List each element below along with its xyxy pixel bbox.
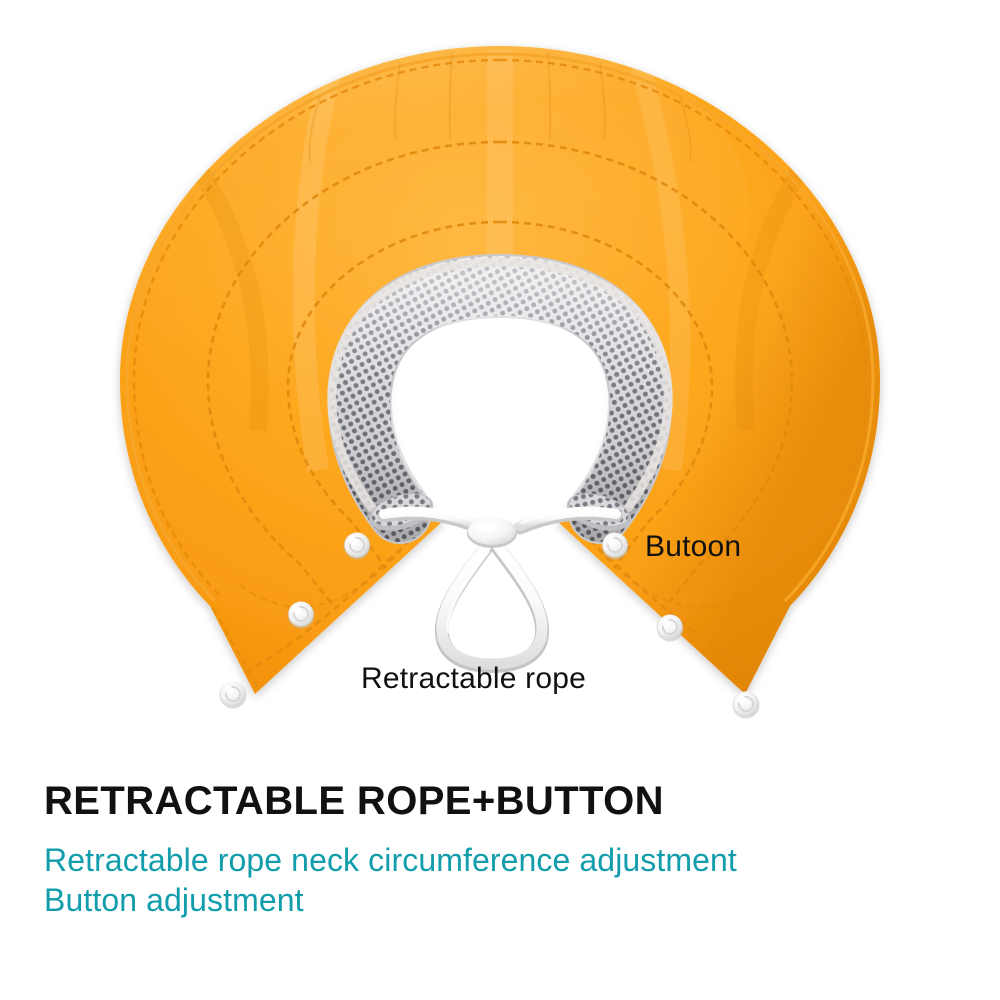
cord-lock-toggle xyxy=(467,517,517,548)
snap-button xyxy=(657,615,684,642)
snap-button xyxy=(288,602,315,629)
caption-block: RETRACTABLE ROPE+BUTTON Retractable rope… xyxy=(44,778,974,920)
caption-title: RETRACTABLE ROPE+BUTTON xyxy=(44,778,974,824)
caption-lines: Retractable rope neck circumference adju… xyxy=(44,840,974,920)
product-feature-card: Butoon Retractable rope RETRACTABLE ROPE… xyxy=(0,0,1000,1000)
product-photo xyxy=(0,0,1000,770)
button-callout-label: Butoon xyxy=(645,530,741,564)
snap-button xyxy=(733,692,760,719)
snap-button xyxy=(344,533,371,560)
shell-shading xyxy=(90,10,880,700)
caption-line-2: Button adjustment xyxy=(44,880,974,920)
caption-line-1: Retractable rope neck circumference adju… xyxy=(44,840,974,880)
snap-button xyxy=(220,682,247,709)
rope-callout-label: Retractable rope xyxy=(361,662,586,696)
collar-illustration xyxy=(0,0,1000,770)
mesh-neck-ring xyxy=(332,262,668,537)
snap-button xyxy=(602,533,629,560)
